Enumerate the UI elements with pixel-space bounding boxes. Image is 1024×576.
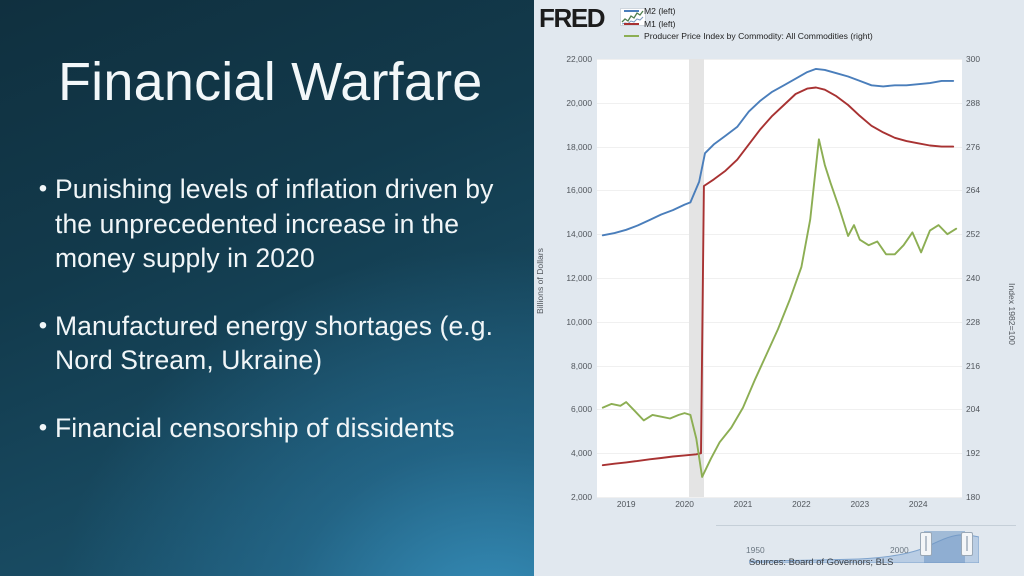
y-axis-left-tick: 10,000 [566,317,592,327]
slide: Financial Warfare • Punishing levels of … [0,0,1024,576]
list-item: • Punishing levels of inflation driven b… [34,172,514,276]
range-start-label: 1950 [746,545,765,555]
y-axis-right-tick: 288 [966,98,980,108]
y-axis-left-title: Billions of Dollars [535,248,545,314]
bullet-marker-icon: • [34,411,52,445]
chart-series-line-2 [603,88,953,466]
date-range-selector[interactable]: 1950 2000 [716,525,1016,549]
x-axis-tick: 2020 [675,499,694,509]
x-axis-tick: 2024 [909,499,928,509]
y-axis-right-tick: 300 [966,54,980,64]
list-item: • Manufactured energy shortages (e.g. No… [34,309,514,378]
y-axis-left-tick: 16,000 [566,185,592,195]
legend-swatch-m2 [624,10,639,12]
legend-label-m2: M2 (left) [644,5,676,17]
legend-swatch-ppi [624,35,639,37]
page-title: Financial Warfare [58,53,518,112]
chart-series-svg [597,59,962,497]
legend-label-m1: M1 (left) [644,18,676,30]
list-item: • Financial censorship of dissidents [34,411,514,446]
range-handle-right[interactable] [961,532,973,556]
legend-label-ppi: Producer Price Index by Commodity: All C… [644,30,873,42]
legend-item-m1: M1 (left) [624,18,1024,31]
chart-plot-area[interactable] [597,59,962,497]
y-axis-left-tick: 6,000 [571,404,592,414]
bullet-list: • Punishing levels of inflation driven b… [34,172,514,445]
chart-legend: M2 (left) M1 (left) Producer Price Index… [624,5,1024,43]
x-axis-tick: 2019 [617,499,636,509]
y-axis-right-tick: 216 [966,361,980,371]
legend-swatch-m1 [624,23,639,25]
fred-chart-panel: FRED M2 (left) M1 (left) Producer Price … [534,0,1024,576]
list-item-label: Manufactured energy shortages (e.g. Nord… [55,309,514,378]
chart-sources: Sources: Board of Governors; BLS [749,556,893,567]
y-axis-right-tick: 228 [966,317,980,327]
y-axis-right-tick: 264 [966,185,980,195]
range-end-label: 2000 [890,545,909,555]
y-axis-right-title: Index 1982=100 [1007,283,1017,345]
y-axis-right-tick: 180 [966,492,980,502]
range-handle-left[interactable] [920,532,932,556]
y-axis-right-tick: 252 [966,229,980,239]
chart-series-line-1 [603,69,953,235]
bullet-marker-icon: • [34,172,52,206]
x-axis-tick: 2022 [792,499,811,509]
y-axis-right: 300288276264252240228216204192180 [966,59,1012,497]
chart-header: FRED M2 (left) M1 (left) Producer Price … [536,2,1022,48]
y-axis-right-tick: 192 [966,448,980,458]
legend-item-m2: M2 (left) [624,5,1024,18]
list-item-label: Financial censorship of dissidents [55,411,455,446]
range-rule [716,525,1016,526]
slide-content-panel: Financial Warfare • Punishing levels of … [0,0,534,576]
y-axis-left-tick: 4,000 [571,448,592,458]
y-axis-left-tick: 8,000 [571,361,592,371]
y-axis-left-tick: 20,000 [566,98,592,108]
y-axis-right-tick: 240 [966,273,980,283]
x-axis-tick: 2021 [734,499,753,509]
x-axis: 201920202021202220232024 [597,497,962,517]
bullet-marker-icon: • [34,309,52,343]
x-axis-tick: 2023 [850,499,869,509]
y-axis-right-tick: 276 [966,142,980,152]
y-axis-right-tick: 204 [966,404,980,414]
y-axis-left-tick: 2,000 [571,492,592,502]
fred-logo: FRED [539,3,604,34]
y-axis-left-tick: 14,000 [566,229,592,239]
y-axis-left-tick: 18,000 [566,142,592,152]
y-axis-left-tick: 22,000 [566,54,592,64]
chart-series-line-3 [603,139,956,477]
legend-item-ppi: Producer Price Index by Commodity: All C… [624,30,1024,43]
chart-plot-wrapper: 22,00020,00018,00016,00014,00012,00010,0… [534,46,1024,512]
y-axis-left-tick: 12,000 [566,273,592,283]
list-item-label: Punishing levels of inflation driven by … [55,172,514,276]
